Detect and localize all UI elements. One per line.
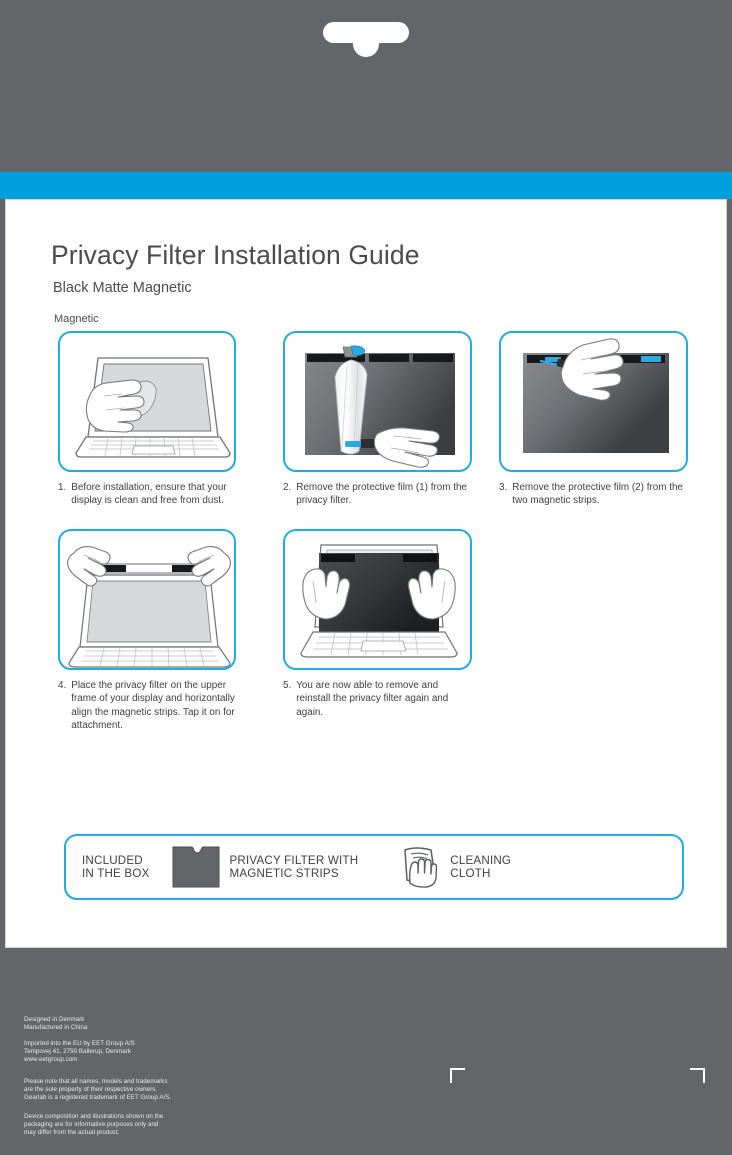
footer-importer: Imported into the EU by EET Group A/S Te… — [24, 1040, 135, 1065]
step-5-caption: 5. You are now able to remove and reinst… — [283, 679, 472, 719]
privacy-filter-swatch-icon — [172, 846, 220, 888]
step-5-number: 5. — [283, 679, 291, 719]
hands-removing-filter-from-laptop-icon — [285, 531, 472, 670]
included-in-the-box-heading: INCLUDED IN THE BOX — [82, 854, 150, 881]
step-3: 3. Remove the protective film (2) from t… — [499, 331, 688, 508]
step-5: 5. You are now able to remove and reinst… — [283, 529, 472, 719]
section-label: Magnetic — [54, 313, 99, 325]
step-1: 1. Before installation, ensure that your… — [58, 331, 236, 508]
filter-peeling-protective-film-icon — [285, 333, 472, 472]
step-2: 2. Remove the protective film (1) from t… — [283, 331, 472, 508]
step-5-illustration — [283, 529, 472, 670]
step-1-caption: 1. Before installation, ensure that your… — [58, 481, 236, 508]
step-2-number: 2. — [283, 481, 291, 508]
laptop-hand-cleaning-screen-icon — [60, 333, 236, 472]
instruction-card: Privacy Filter Installation Guide Black … — [5, 199, 727, 948]
footer-disclaimer: Device composition and illustrations sho… — [24, 1113, 163, 1138]
cleaning-cloth-icon — [398, 845, 440, 889]
box-item-cleaning-cloth-label: CLEANING CLOTH — [450, 854, 511, 881]
page-subtitle: Black Matte Magnetic — [53, 280, 192, 296]
step-1-number: 1. — [58, 481, 66, 508]
filter-peeling-magnetic-strip-film-icon — [501, 333, 688, 472]
step-4-caption: 4. Place the privacy filter on the upper… — [58, 679, 236, 733]
box-item-privacy-filter-label: PRIVACY FILTER WITH MAGNETIC STRIPS — [230, 854, 359, 881]
step-1-text: Before installation, ensure that your di… — [71, 481, 236, 508]
crop-mark-left — [450, 1068, 465, 1083]
step-4-text: Place the privacy filter on the upper fr… — [71, 679, 236, 733]
step-3-illustration — [499, 331, 688, 472]
footer-trademark: Please note that all names, models and t… — [24, 1078, 171, 1103]
footer-origin: Designed in Denmark Manufactured in Chin… — [24, 1016, 87, 1032]
step-4: 4. Place the privacy filter on the upper… — [58, 529, 236, 733]
included-in-the-box-panel: INCLUDED IN THE BOX PRIVACY FILTER WITH … — [64, 834, 684, 900]
page-title: Privacy Filter Installation Guide — [51, 240, 420, 271]
box-item-privacy-filter: PRIVACY FILTER WITH MAGNETIC STRIPS — [172, 846, 359, 888]
crop-mark-right — [690, 1068, 705, 1083]
hang-slot-circle — [353, 31, 379, 57]
step-3-caption: 3. Remove the protective film (2) from t… — [499, 481, 688, 508]
step-3-number: 3. — [499, 481, 507, 508]
step-3-text: Remove the protective film (2) from the … — [512, 481, 688, 508]
two-hands-placing-filter-on-laptop-icon — [60, 531, 236, 670]
step-2-illustration — [283, 331, 472, 472]
step-1-illustration — [58, 331, 236, 472]
step-5-text: You are now able to remove and reinstall… — [296, 679, 472, 719]
accent-band — [0, 172, 732, 199]
package-backdrop: Privacy Filter Installation Guide Black … — [0, 0, 732, 1155]
step-2-text: Remove the protective film (1) from the … — [296, 481, 472, 508]
step-4-illustration — [58, 529, 236, 670]
euro-hang-slot-icon — [323, 22, 409, 43]
box-item-cleaning-cloth: CLEANING CLOTH — [398, 845, 511, 889]
step-2-caption: 2. Remove the protective film (1) from t… — [283, 481, 472, 508]
step-4-number: 4. — [58, 679, 66, 733]
